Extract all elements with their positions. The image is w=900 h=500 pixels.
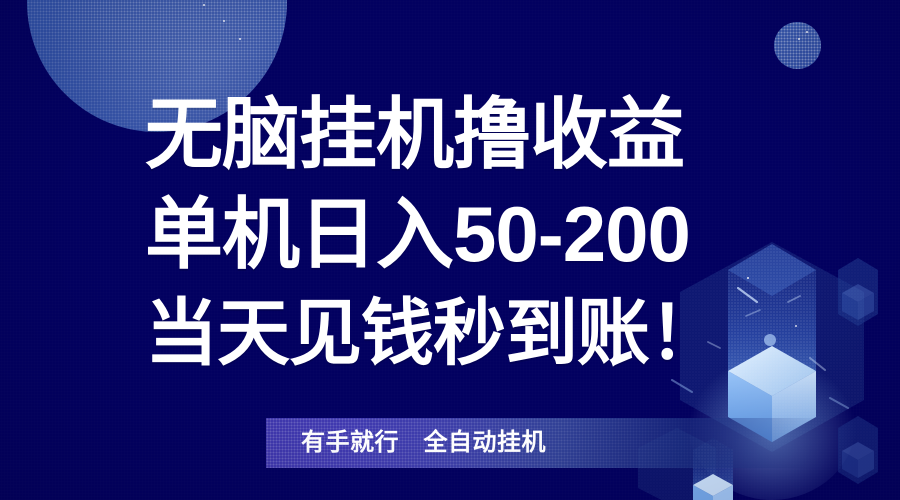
headline-line-3: 当天见钱秒到账！ (145, 284, 785, 384)
promo-banner: 无脑挂机撸收益 单机日入50-200 当天见钱秒到账！ 有手就行 全自动挂机 (0, 0, 900, 500)
headline-line-1: 无脑挂机撸收益 (145, 84, 785, 184)
headline-line-2: 单机日入50-200 (145, 184, 785, 284)
sparkle-dot (806, 31, 808, 33)
sparkle-dot (239, 38, 241, 40)
halftone-circle-small (774, 22, 821, 69)
sparkle-dot (798, 38, 800, 40)
subtitle-ribbon: 有手就行 全自动挂机 (266, 418, 826, 468)
sparkle-dot (223, 20, 225, 22)
sparkle-dot (203, 4, 205, 6)
headline-block: 无脑挂机撸收益 单机日入50-200 当天见钱秒到账！ (145, 84, 785, 384)
subtitle-text: 有手就行 全自动挂机 (266, 418, 826, 468)
circle-small-dot-texture (774, 22, 821, 69)
